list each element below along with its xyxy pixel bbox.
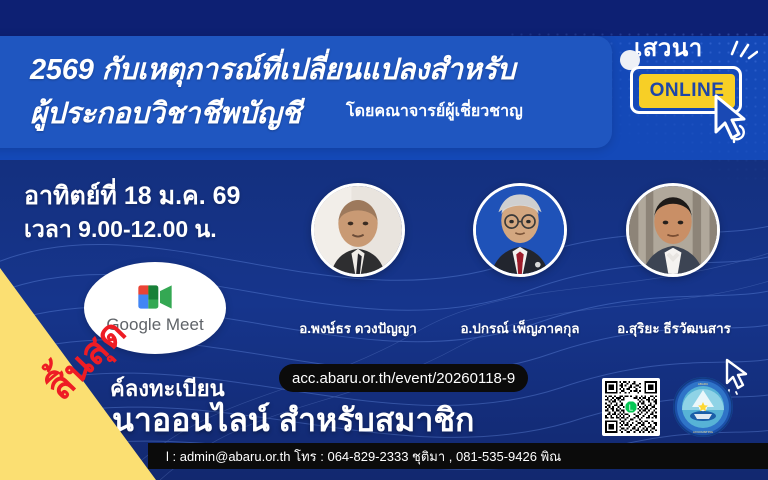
- registration-url: acc.abaru.or.th/event/20260118-9: [292, 370, 515, 387]
- speaker-photo-2: [476, 186, 564, 274]
- svg-text:L: L: [629, 403, 634, 412]
- event-time: เวลา 9.00-12.00 น.: [24, 212, 217, 248]
- title-line-1: 2569 กับเหตุการณ์ที่เปลี่ยนแปลงสำหรับ: [30, 46, 515, 92]
- speaker-name-2: อ.ปกรณ์ เพ็ญภาคกุล: [458, 317, 582, 339]
- google-meet-icon: [135, 281, 175, 313]
- google-meet-badge: Google Meet: [84, 262, 226, 354]
- badge-seminar-label: เสวนา: [634, 28, 703, 67]
- speaker-photo-1: [314, 186, 402, 274]
- badge-cursor-icon: [706, 92, 754, 144]
- speaker-photo-3: [629, 186, 717, 274]
- title-line-2: ผู้ประกอบวิชาชีพบัญชี: [30, 90, 301, 136]
- svg-text:ACCOUNTING: ACCOUNTING: [693, 430, 714, 434]
- contact-bar: l : admin@abaru.or.th โทร : 064-829-2333…: [148, 443, 768, 469]
- svg-text:ABARU: ABARU: [698, 382, 708, 386]
- line-qr-code[interactable]: L: [602, 378, 660, 436]
- online-badge: เสวนา ONLINE: [620, 28, 760, 146]
- organization-seal-logo: ABARU ACCOUNTING: [672, 376, 734, 438]
- speaker-name-3: อ.สุริยะ ธีรวัฒนสาร: [612, 317, 736, 339]
- title-subtitle: โดยคณาจารย์ผู้เชี่ยวชาญ: [346, 99, 523, 124]
- seal-emblem-icon: ABARU ACCOUNTING: [672, 376, 734, 438]
- event-date: อาทิตย์ที่ 18 ม.ค. 69: [24, 176, 240, 216]
- registration-line-2: นาออนไลน์ สำหรับสมาชิก: [112, 395, 474, 446]
- qr-code-image: L: [605, 381, 657, 433]
- contact-text: l : admin@abaru.or.th โทร : 064-829-2333…: [166, 446, 561, 467]
- speaker-name-1: อ.พงษ์ธร ดวงปัญญา: [296, 317, 420, 339]
- poster-canvas: 2569 กับเหตุการณ์ที่เปลี่ยนแปลงสำหรับ ผู…: [0, 0, 768, 480]
- speaker-portrait-2: [473, 183, 567, 277]
- registration-url-chip[interactable]: acc.abaru.or.th/event/20260118-9: [279, 364, 528, 392]
- speaker-portrait-1: [311, 183, 405, 277]
- speaker-portrait-3: [626, 183, 720, 277]
- google-meet-label: Google Meet: [106, 315, 203, 335]
- badge-sparkle-icon: [728, 34, 758, 60]
